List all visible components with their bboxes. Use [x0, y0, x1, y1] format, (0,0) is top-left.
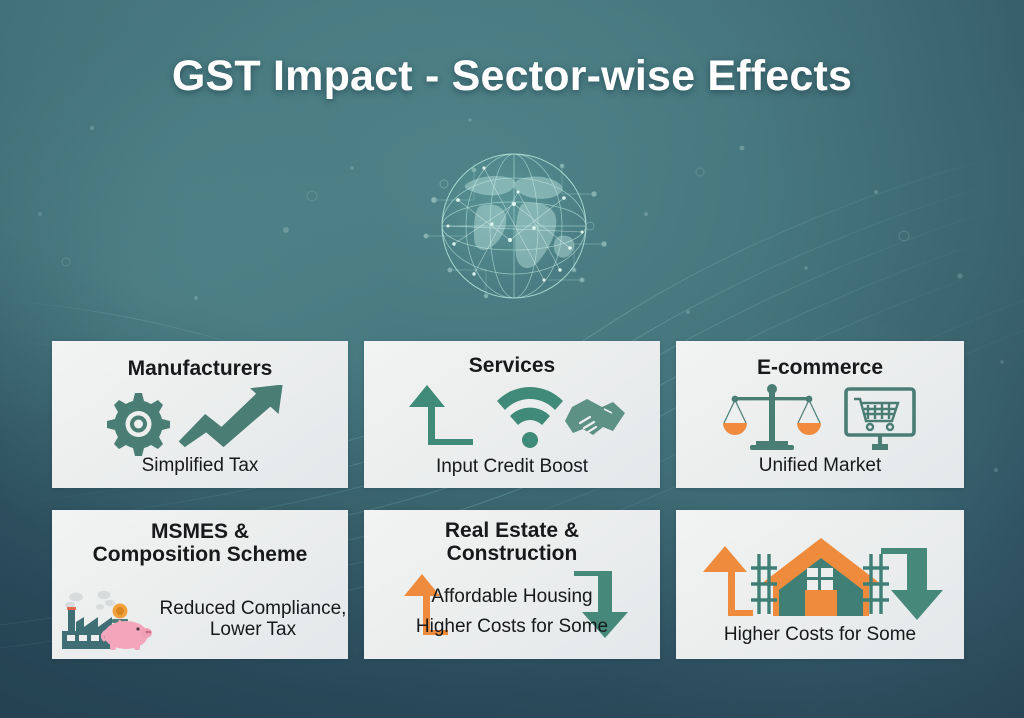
card-subtitle-line1: Reduced Compliance, — [160, 598, 347, 619]
house-icon — [761, 538, 881, 616]
card-title-line2: Construction — [447, 542, 578, 565]
card-icon-group — [364, 383, 660, 453]
card-real-estate[interactable]: Real Estate & Construction Affordable Ho… — [364, 510, 660, 659]
card-title-line1: Real Estate & — [445, 519, 579, 542]
card-title: E-commerce — [757, 357, 883, 380]
card-title: MSMES & Composition Scheme — [93, 521, 308, 566]
card-subtitle: Reduced Compliance, Lower Tax — [160, 598, 347, 641]
monitor-shopping-cart-icon — [846, 389, 914, 447]
gear-icon — [107, 393, 170, 456]
orange-up-arrow-icon — [703, 546, 753, 616]
wifi-icon — [497, 387, 563, 448]
piggy-bank-icon — [102, 604, 152, 651]
card-title: Manufacturers — [128, 358, 273, 381]
balance-scales-icon — [723, 384, 821, 450]
card-icon-group — [52, 385, 348, 457]
upward-trend-arrow-icon — [179, 385, 283, 447]
card-msmes[interactable]: MSMES & Composition Scheme — [52, 510, 348, 659]
card-services[interactable]: Services Input Credit Boost — [364, 341, 660, 488]
card-body: Reduced Compliance, Lower Tax — [52, 587, 348, 651]
card-title-line1: MSMES & — [151, 520, 249, 543]
card-subtitle-line1: Affordable Housing — [364, 586, 660, 607]
card-subtitle: Input Credit Boost — [364, 456, 660, 477]
card-subtitle: Unified Market — [676, 455, 964, 476]
card-title-line2: Composition Scheme — [93, 543, 308, 566]
page-title: GST Impact - Sector-wise Effects — [0, 52, 1024, 101]
card-housing-costs[interactable]: Higher Costs for Some — [676, 510, 964, 659]
card-icon-group — [676, 383, 964, 457]
card-subtitle: Simplified Tax — [52, 455, 348, 476]
handshake-icon — [565, 399, 625, 435]
card-icon-group — [54, 587, 158, 651]
card-icon-group — [676, 524, 964, 624]
card-text-lines: Affordable Housing Higher Costs for Some — [364, 586, 660, 638]
card-title: Real Estate & Construction — [445, 520, 579, 565]
network-globe-graphic — [414, 140, 614, 320]
card-ecommerce[interactable]: E-commerce — [676, 341, 964, 488]
card-subtitle-line2: Lower Tax — [210, 619, 296, 640]
card-subtitle: Higher Costs for Some — [676, 624, 964, 645]
cart-glyph — [854, 399, 898, 430]
teal-down-arrow-icon — [881, 548, 943, 620]
card-subtitle-line2: Higher Costs for Some — [364, 616, 660, 637]
up-arrow-icon — [409, 385, 473, 445]
card-manufacturers[interactable]: Manufacturers Simplified Tax — [52, 341, 348, 488]
sector-card-grid: Manufacturers Simplified Tax Services — [52, 341, 964, 659]
card-title: Services — [469, 355, 555, 378]
